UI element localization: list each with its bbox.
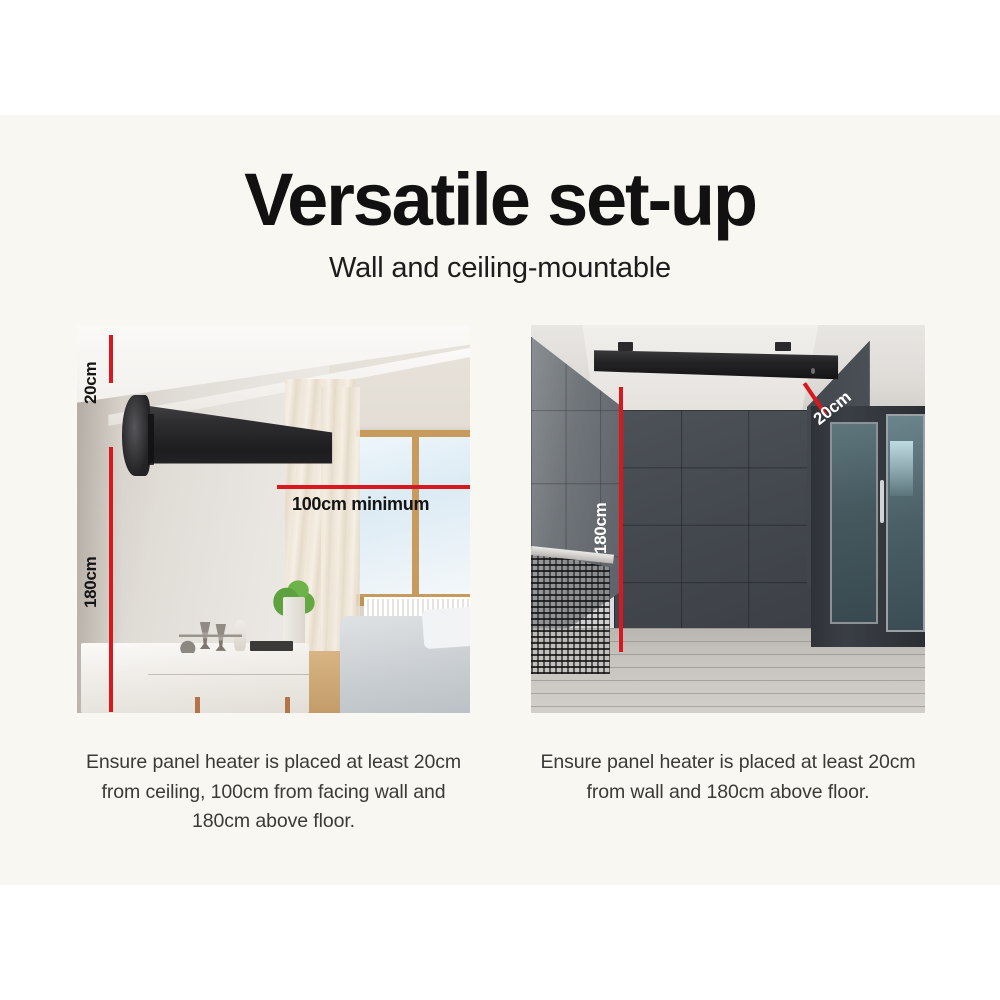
sideboard-drawer-line — [148, 674, 309, 675]
facing-wall-clearance-line — [277, 485, 470, 489]
bedroom-scene — [77, 325, 470, 713]
panel-heater-mount — [618, 342, 634, 351]
floor-height-line — [619, 387, 623, 652]
floor-height-label: 180cm — [82, 557, 99, 608]
wall-tile-grid — [614, 410, 815, 635]
window-glass — [350, 437, 470, 594]
window-mullion — [412, 435, 419, 595]
infographic-page: Versatile set-up Wall and ceiling-mounta… — [0, 0, 1000, 1000]
ceiling-clearance-label: 20cm — [82, 362, 99, 404]
glass-reflection — [890, 441, 914, 495]
window — [344, 430, 470, 601]
panel-heater-mount — [775, 342, 791, 351]
back-wall — [614, 410, 815, 635]
panel-heater-bracket — [148, 414, 154, 464]
page-subtitle: Wall and ceiling-mountable — [0, 252, 1000, 285]
ceiling-mount-caption: Ensure panel heater is placed at least 2… — [531, 748, 925, 807]
panel-heater-end-cap — [122, 395, 150, 476]
floor-height-line — [109, 447, 113, 712]
sliding-door-handle — [880, 480, 884, 523]
sliding-door-glass — [830, 422, 877, 624]
sideboard-leg — [285, 697, 290, 713]
sideboard-leg — [195, 697, 200, 713]
floor-height-label: 180cm — [592, 503, 609, 554]
decor-tray — [250, 641, 293, 650]
facing-wall-clearance-label: 100cm minimum — [292, 495, 429, 513]
wall-mount-image: 20cm 180cm 100cm minimum — [77, 325, 470, 713]
decor-objects — [179, 622, 242, 653]
wall-mount-caption: Ensure panel heater is placed at least 2… — [77, 748, 470, 837]
page-title: Versatile set-up — [0, 163, 1000, 237]
ceiling-clearance-line — [109, 335, 113, 383]
pillow — [422, 606, 470, 649]
ceiling-mount-image: 180cm 20cm — [531, 325, 925, 713]
balcony-railing — [531, 550, 610, 674]
